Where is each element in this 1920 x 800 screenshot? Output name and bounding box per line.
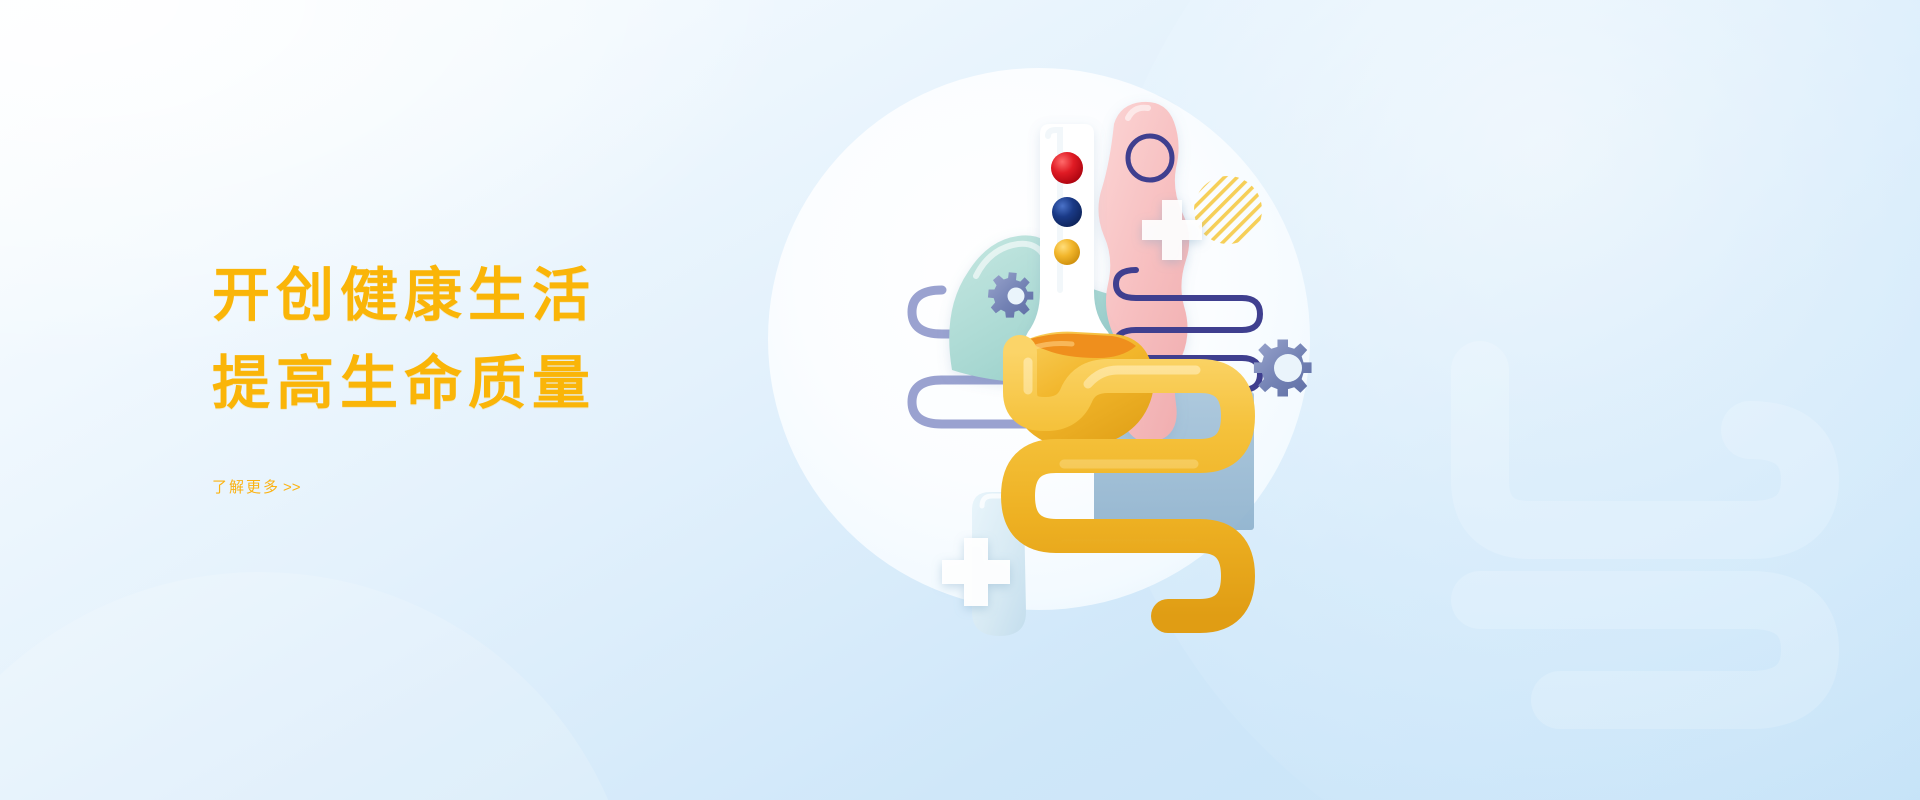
pill-navy-icon <box>1052 197 1082 227</box>
headline-line-1: 开创健康生活 <box>212 252 832 340</box>
background-circle-decoration <box>0 572 640 800</box>
hero-banner: 开创健康生活 提高生命质量 了解更多>> <box>0 0 1920 800</box>
hatched-circle-icon <box>1194 176 1262 244</box>
hero-copy: 开创健康生活 提高生命质量 了解更多>> <box>212 252 832 497</box>
learn-more-link[interactable]: 了解更多>> <box>212 476 301 497</box>
background-watermark-icon <box>1420 330 1920 800</box>
pill-red-icon <box>1051 152 1083 184</box>
chevron-right-icon: >> <box>283 479 301 496</box>
learn-more-label: 了解更多 <box>212 479 280 496</box>
gear-large-icon <box>1254 339 1312 396</box>
pill-amber-icon <box>1054 239 1080 265</box>
digestive-system-illustration <box>850 40 1410 640</box>
headline-line-2: 提高生命质量 <box>212 340 832 428</box>
